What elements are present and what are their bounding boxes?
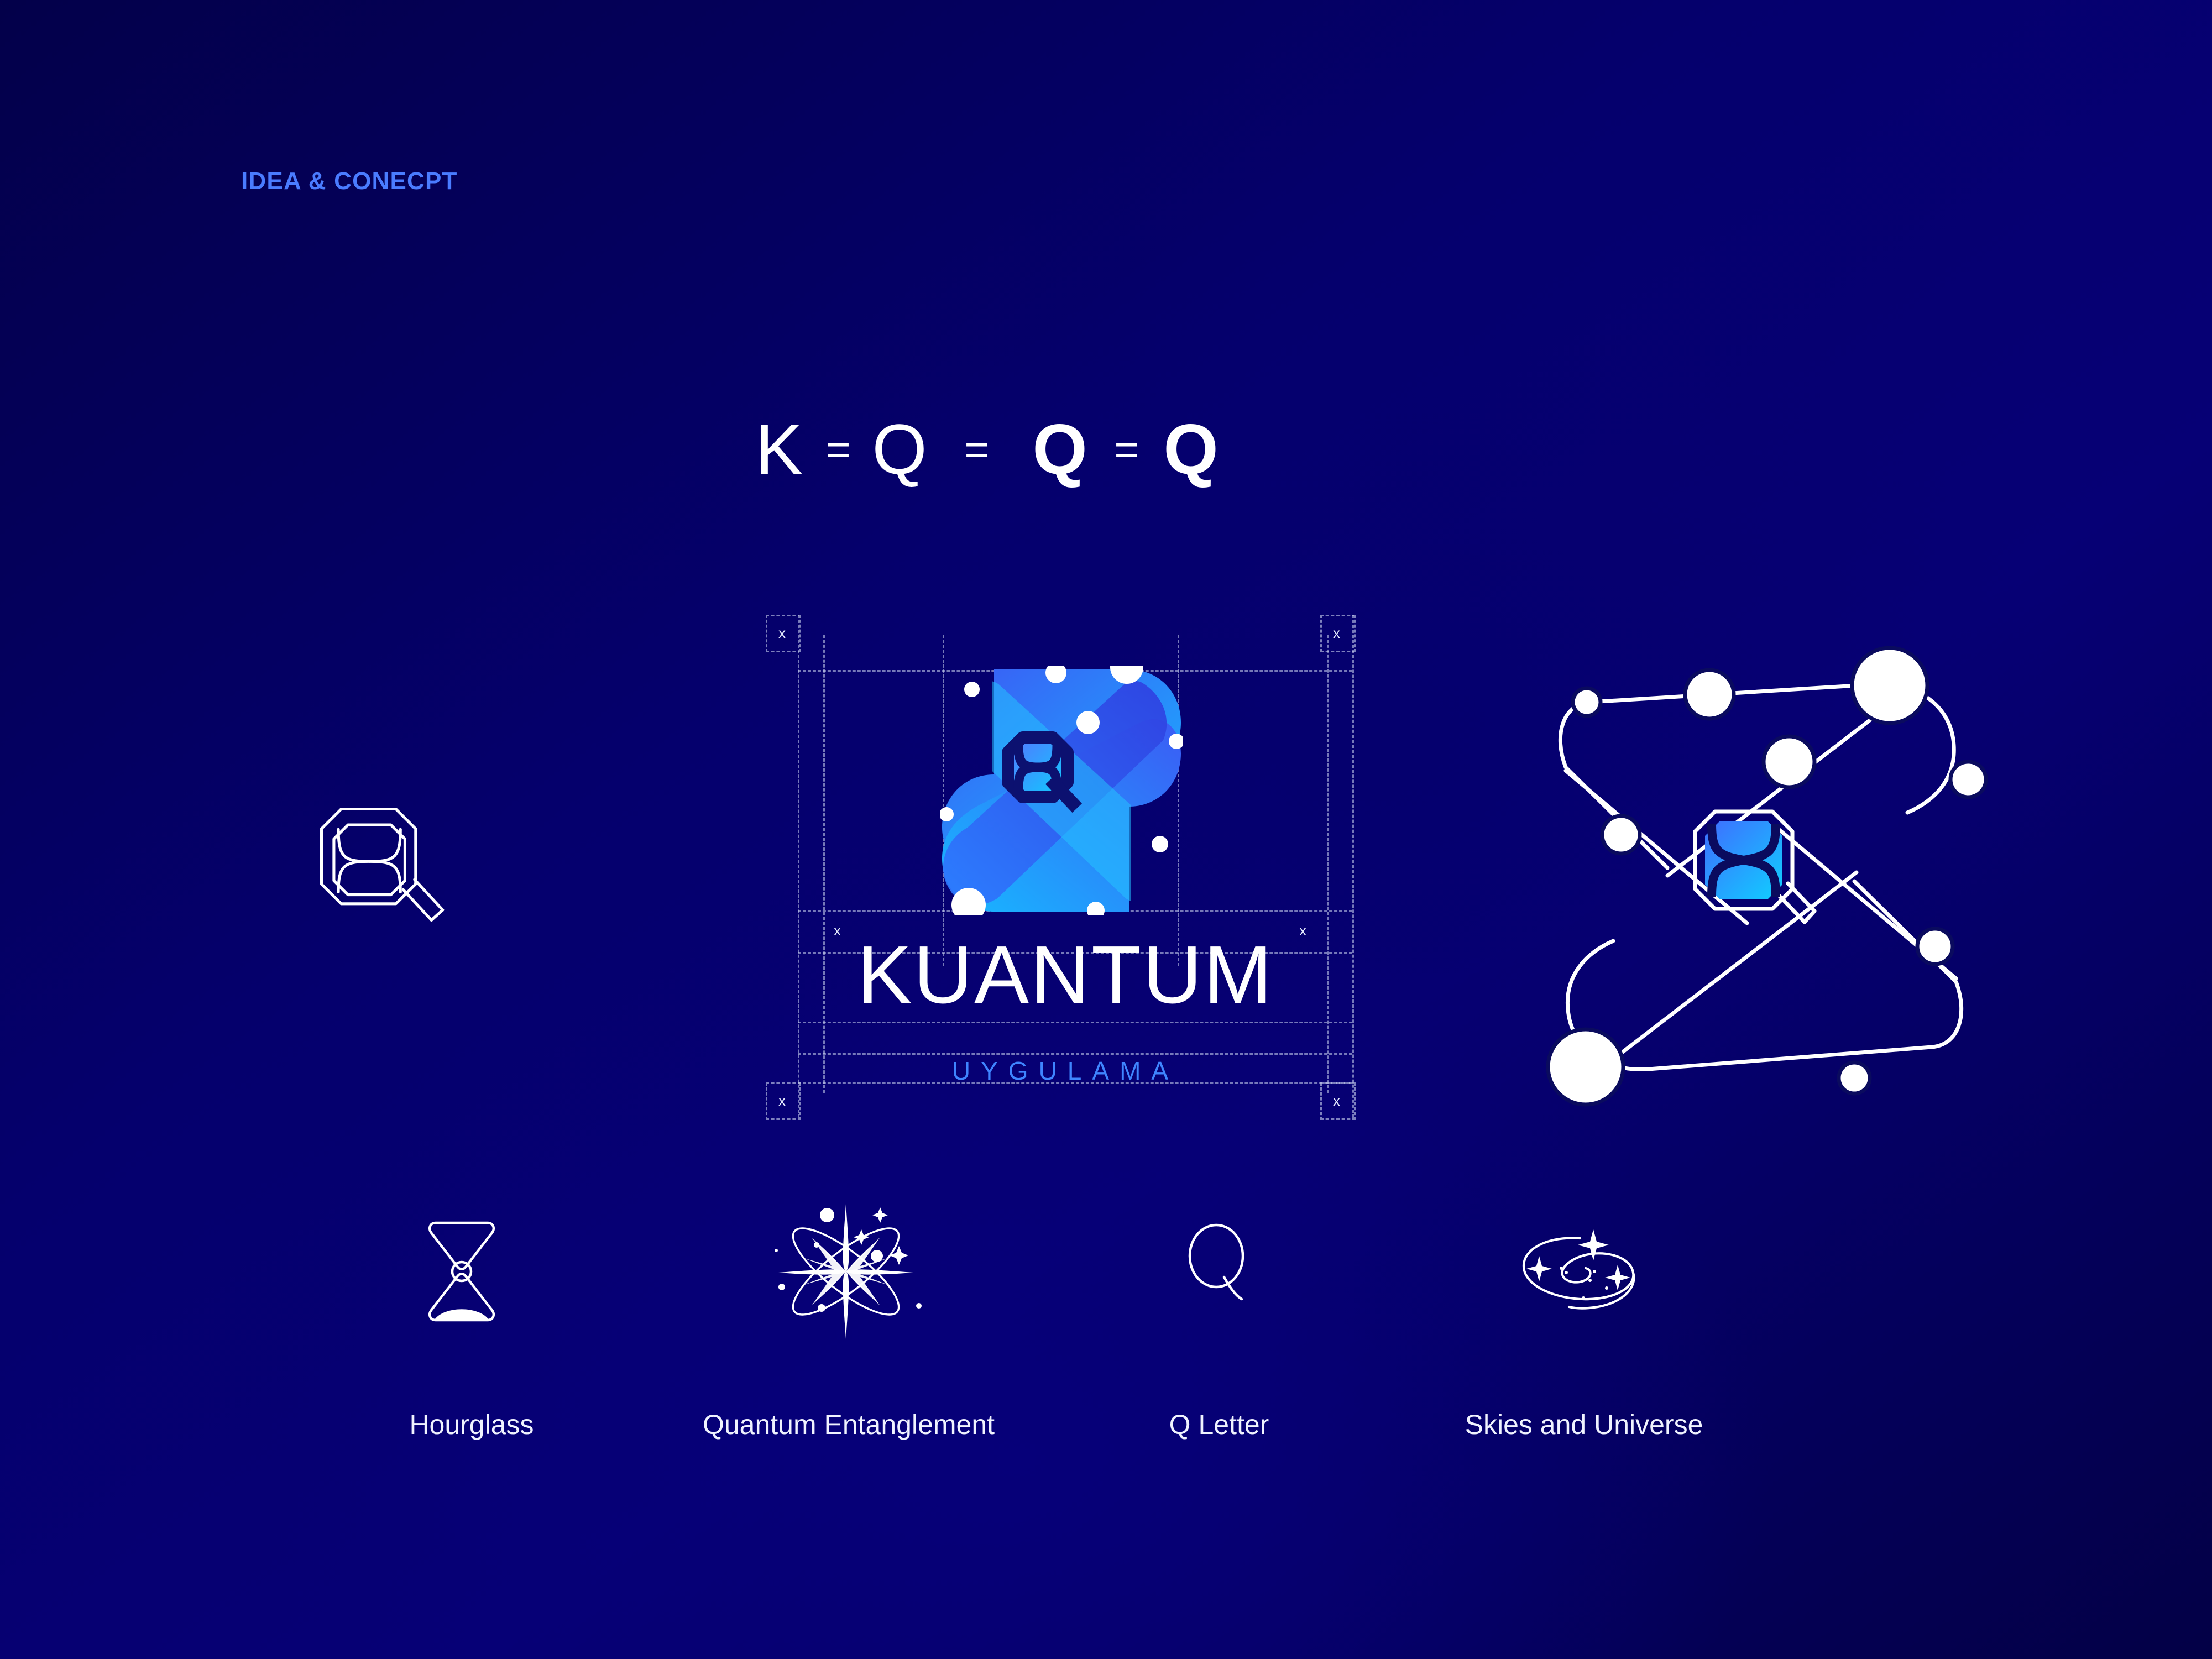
presentation-canvas: IDEA & CONECPT K = Q = Q = Q	[0, 0, 2212, 1659]
outline-q-concept-mark	[276, 791, 453, 956]
node-dot	[940, 807, 954, 821]
guide-horizontal-wordmark-bottom	[798, 1022, 1352, 1023]
equation-equals-1: =	[813, 425, 864, 475]
equation-equals-2: =	[935, 425, 1018, 475]
guide-vertical-outer-left	[798, 615, 799, 1118]
particle-dot	[775, 1249, 778, 1252]
guide-vertical-inner-left	[823, 635, 825, 1093]
wireframe-atom-construction	[1531, 636, 1990, 1111]
particle-dot	[814, 1242, 819, 1248]
node-circle	[1917, 929, 1953, 964]
node-dot	[951, 888, 986, 915]
node-dot	[1045, 666, 1066, 683]
equation-letter-q-thin: Q	[864, 409, 935, 490]
q-letter-icon	[1183, 1222, 1255, 1305]
guide-vertical-inner-right	[1327, 635, 1329, 1093]
guide-horizontal-tile-top	[798, 670, 1352, 672]
particle-dot	[778, 1284, 785, 1290]
clearspace-label-top-left: x	[778, 625, 786, 642]
equation-letter-q-bold: Q	[1152, 409, 1230, 490]
clearspace-label-top-right: x	[1333, 625, 1340, 642]
node-circle	[1548, 1029, 1623, 1105]
guide-horizontal-subtitle-top	[798, 1053, 1352, 1055]
concept-label-hourglass: Hourglass	[391, 1409, 552, 1441]
concept-label-q-letter: Q Letter	[1158, 1409, 1280, 1441]
node-circle	[1573, 688, 1601, 716]
guide-horizontal-tile-bottom	[798, 910, 1352, 912]
concept-label-quantum-entanglement: Quantum Entanglement	[655, 1409, 1042, 1441]
particle-dot	[871, 1250, 883, 1262]
node-dot	[1110, 666, 1143, 684]
concept-label-skies-and-universe: Skies and Universe	[1437, 1409, 1730, 1441]
equation-equals-3: =	[1101, 425, 1152, 475]
atom-node-group	[1548, 648, 1986, 1105]
clearspace-label-bottom-right: x	[1333, 1092, 1340, 1110]
guide-vertical-tile-right	[1178, 635, 1179, 966]
galaxy-spiral-icon	[1515, 1222, 1653, 1321]
particle-dot	[916, 1303, 922, 1309]
equation-letter-q-octagonal: Q	[1018, 409, 1101, 490]
node-dot	[1169, 734, 1183, 749]
particle-dot	[820, 1208, 834, 1222]
node-dot	[1076, 711, 1100, 734]
node-circle	[1950, 762, 1986, 797]
particle-dot	[818, 1304, 825, 1312]
guide-vertical-tile-left	[943, 635, 944, 966]
logo-subtitle: UYGULAMA	[800, 1056, 1331, 1086]
node-dot	[964, 682, 980, 697]
clearspace-label-bottom-left: x	[778, 1092, 786, 1110]
hourglass-icon	[426, 1216, 498, 1327]
node-circle	[1852, 648, 1927, 723]
node-circle	[1685, 670, 1734, 719]
guide-vertical-outer-right	[1352, 615, 1354, 1118]
section-heading: IDEA & CONECPT	[241, 168, 458, 195]
node-dot	[1152, 836, 1168, 852]
star-orbit-icon	[763, 1189, 929, 1354]
logo-wordmark: KUANTUM	[800, 934, 1331, 1016]
primary-logo-mark	[940, 666, 1183, 915]
node-circle	[1602, 816, 1640, 854]
node-circle	[1839, 1063, 1870, 1093]
equation-letter-k: K	[746, 409, 813, 490]
node-dot	[1087, 902, 1105, 915]
node-circle	[1764, 736, 1814, 787]
logo-derivation-equation: K = Q = Q = Q	[746, 409, 1230, 490]
